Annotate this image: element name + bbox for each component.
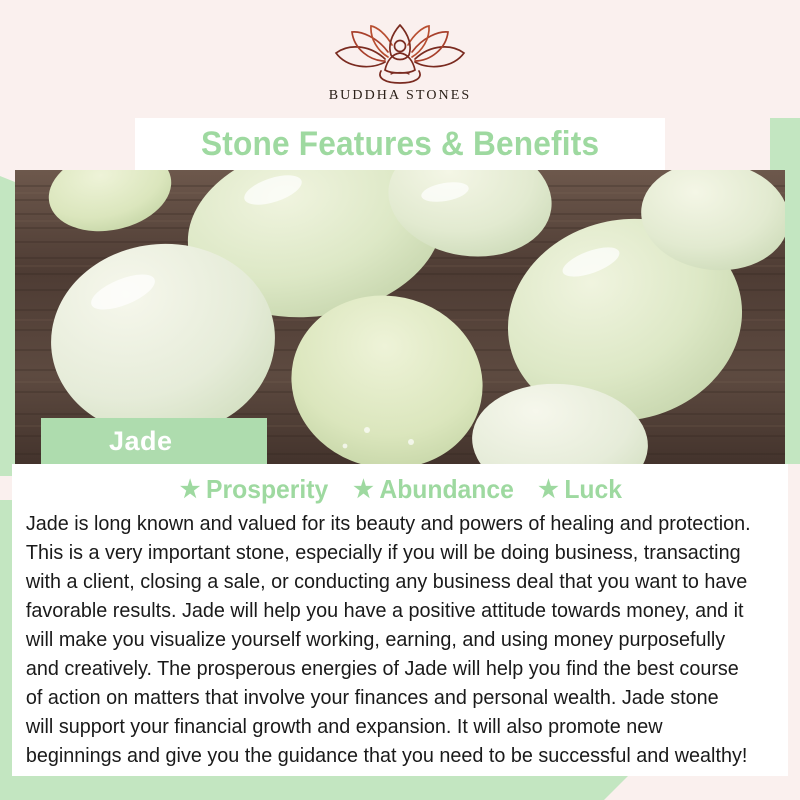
stone-name: Jade xyxy=(109,426,173,457)
brand-name: BUDDHA STONES xyxy=(329,88,472,104)
description-panel: ★ Prosperity ★ Abundance ★ Luck Jade is … xyxy=(12,464,788,776)
star-icon: ★ xyxy=(354,478,374,502)
brand-header: BUDDHA STONES xyxy=(0,0,800,118)
benefit-item: ★ Abundance xyxy=(354,474,515,505)
benefit-item: ★ Prosperity xyxy=(180,474,328,505)
benefit-label: Luck xyxy=(564,474,622,505)
decorative-edge-left-bottom xyxy=(0,500,12,765)
star-icon: ★ xyxy=(538,478,558,502)
section-title-banner: Stone Features & Benefits xyxy=(135,118,665,170)
benefits-row: ★ Prosperity ★ Abundance ★ Luck xyxy=(22,474,778,505)
lotus-meditation-icon xyxy=(325,22,475,84)
stone-description: Jade is long known and valued for its be… xyxy=(22,509,752,770)
benefit-item: ★ Luck xyxy=(538,474,622,505)
stone-name-tag: Jade xyxy=(41,418,267,464)
stone-photo: Jade xyxy=(15,170,785,464)
star-icon: ★ xyxy=(180,478,200,502)
page-title: Stone Features & Benefits xyxy=(201,125,599,164)
benefit-label: Abundance xyxy=(380,474,514,505)
benefit-label: Prosperity xyxy=(206,474,328,505)
